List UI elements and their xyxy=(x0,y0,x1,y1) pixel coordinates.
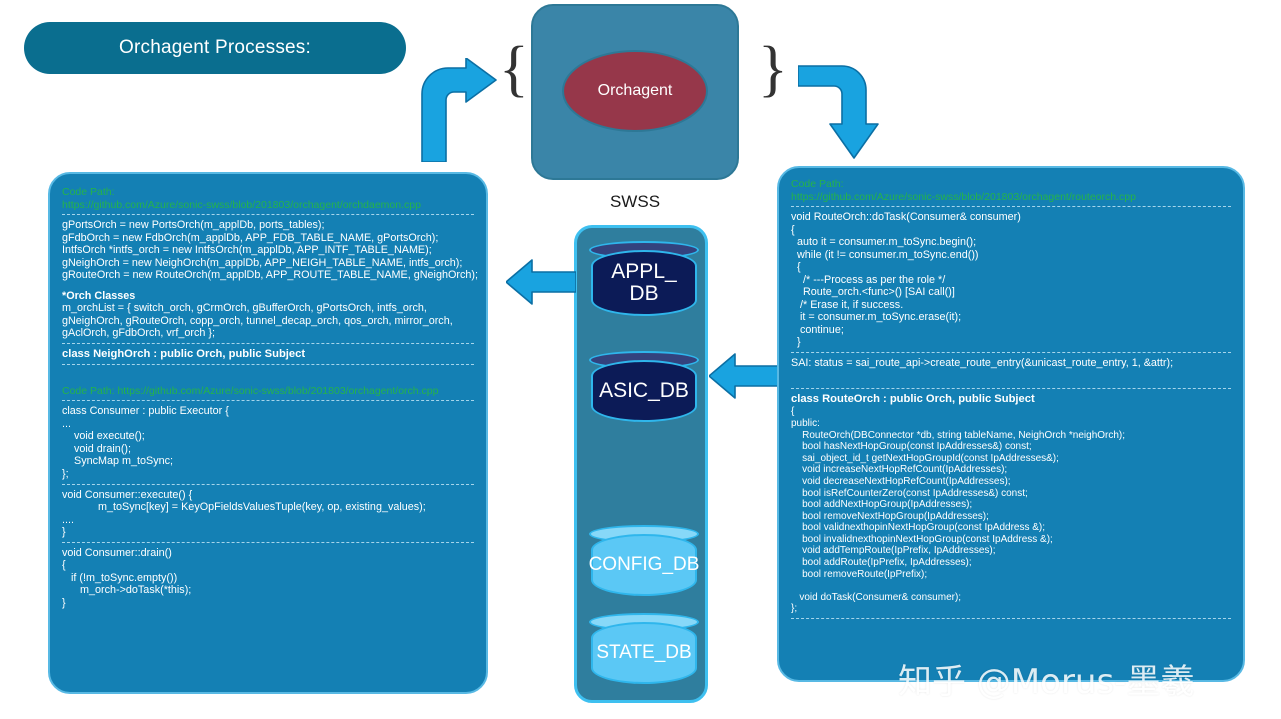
right-code-path-url: https://github.com/Azure/sonic-swss/blob… xyxy=(791,191,1231,204)
db-cylinder-appl-db: APPL_ DB xyxy=(591,250,697,316)
spacer xyxy=(791,369,1231,385)
orch-classes-list: m_orchList = { switch_orch, gCrmOrch, gB… xyxy=(62,302,474,340)
divider xyxy=(62,214,474,215)
db-label-config-db: CONFIG_DB xyxy=(589,555,700,575)
db-label-appl-db: APPL_ DB xyxy=(597,261,691,305)
left-code-path-2: Code Path: https://github.com/Azure/soni… xyxy=(62,385,474,398)
db-label-state-db: STATE_DB xyxy=(596,643,691,663)
routeorch-class-decl: class RouteOrch : public Orch, public Su… xyxy=(791,393,1231,406)
consumer-drain-block: void Consumer::drain() { if (!m_toSync.e… xyxy=(62,547,474,610)
db-cylinder-asic-db: ASIC_DB xyxy=(591,360,697,422)
diagram-canvas: Orchagent Processes: Orchagent { } SWSS … xyxy=(0,0,1281,719)
db-label-asic-db: ASIC_DB xyxy=(599,380,689,402)
divider xyxy=(791,352,1231,353)
divider xyxy=(62,484,474,485)
redis-db-stack: APPL_ DB ASIC_DB CONFIG_DB STATE_DB xyxy=(574,225,708,703)
brace-left-icon: { xyxy=(499,38,529,100)
consumer-class-block: class Consumer : public Executor { ... v… xyxy=(62,405,474,480)
sai-call-line: SAI: status = sai_route_api->create_rout… xyxy=(791,357,1231,370)
divider xyxy=(791,618,1231,619)
left-init-block: gPortsOrch = new PortsOrch(m_applDb, por… xyxy=(62,219,474,282)
watermark: 知乎 @Morus-墨羲 xyxy=(898,654,1194,703)
arrow-right-panel-to-asicdb xyxy=(709,352,779,400)
consumer-execute-block: void Consumer::execute() { m_toSync[key]… xyxy=(62,489,474,539)
arrow-swss-to-right-panel xyxy=(798,58,882,164)
page-title: Orchagent Processes: xyxy=(24,22,406,74)
routeorch-dotask-block: void RouteOrch::doTask(Consumer& consume… xyxy=(791,211,1231,349)
arrow-appldb-to-left-panel xyxy=(506,258,576,306)
swss-caption: SWSS xyxy=(531,192,739,212)
left-code-path-label: Code Path: xyxy=(62,186,474,199)
routeorch-class-body: { public: RouteOrch(DBConnector *db, str… xyxy=(791,406,1231,615)
db-cylinder-state-db: STATE_DB xyxy=(591,622,697,684)
arrow-title-to-swss xyxy=(414,58,498,162)
orch-classes-heading: *Orch Classes xyxy=(62,290,474,303)
right-code-path-label: Code Path: xyxy=(791,178,1231,191)
divider xyxy=(62,364,474,365)
divider xyxy=(62,343,474,344)
brace-right-icon: } xyxy=(758,38,788,100)
spacer xyxy=(62,369,474,385)
divider xyxy=(791,388,1231,389)
left-code-panel: Code Path: https://github.com/Azure/soni… xyxy=(48,172,488,694)
divider xyxy=(791,206,1231,207)
db-cylinder-config-db: CONFIG_DB xyxy=(591,534,697,596)
neighorch-class-decl: class NeighOrch : public Orch, public Su… xyxy=(62,348,474,361)
orchagent-node: Orchagent xyxy=(562,50,708,132)
spacer xyxy=(62,282,474,290)
divider xyxy=(62,542,474,543)
divider xyxy=(62,400,474,401)
orchagent-label: Orchagent xyxy=(598,82,673,100)
right-code-panel: Code Path: https://github.com/Azure/soni… xyxy=(777,166,1245,682)
left-code-path-url: https://github.com/Azure/sonic-swss/blob… xyxy=(62,199,474,212)
